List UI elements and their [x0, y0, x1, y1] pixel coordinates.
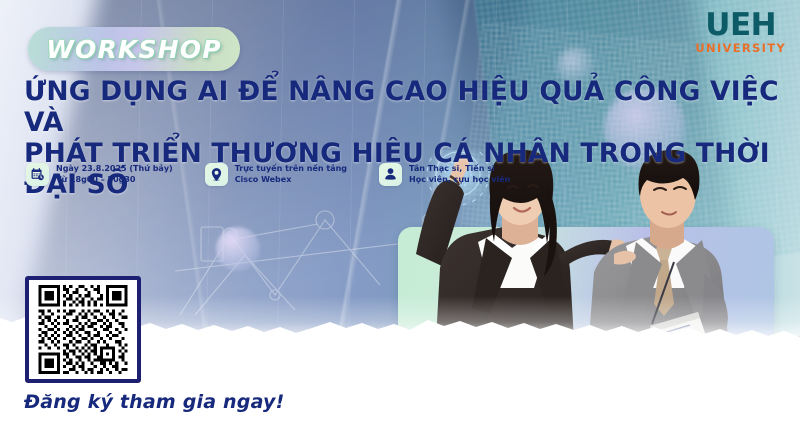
location-pin-icon — [205, 163, 228, 186]
person-icon — [379, 163, 402, 186]
info-date-line1: Ngày 23.8.2025 (Thứ bảy) — [56, 164, 173, 173]
bokeh-orb — [216, 227, 260, 271]
workshop-badge: WORKSHOP — [28, 27, 240, 71]
info-item-location: Trực tuyến trên nền tảng Cisco Webex — [205, 163, 347, 186]
ueh-logo: UEH UNIVERSITY — [695, 10, 786, 55]
info-location-line1: Trực tuyến trên nền tảng — [235, 164, 347, 173]
ueh-logo-sub: UNIVERSITY — [695, 43, 786, 55]
qr-code-registration[interactable] — [25, 276, 141, 383]
workshop-badge-label: WORKSHOP — [46, 35, 222, 64]
info-audience-text: Tân Thạc sĩ, Tiến sĩ Học viên, cựu học v… — [409, 163, 510, 185]
info-audience-line2: Học viên, cựu học viên — [409, 174, 510, 185]
info-date-text: Ngày 23.8.2025 (Thứ bảy) Từ 18g00 – 20g3… — [56, 163, 173, 185]
cta-text: Đăng ký tham gia ngay! — [24, 391, 284, 413]
ueh-logo-main: UEH — [695, 10, 786, 41]
calendar-clock-icon — [26, 163, 49, 186]
info-location-text: Trực tuyến trên nền tảng Cisco Webex — [235, 163, 347, 185]
info-date-line2: Từ 18g00 – 20g30 — [56, 174, 173, 185]
info-item-date: Ngày 23.8.2025 (Thứ bảy) Từ 18g00 – 20g3… — [26, 163, 173, 186]
info-item-audience: Tân Thạc sĩ, Tiến sĩ Học viên, cựu học v… — [379, 163, 510, 186]
event-info-row: Ngày 23.8.2025 (Thứ bảy) Từ 18g00 – 20g3… — [26, 163, 510, 186]
headline-line-1: ỨNG DỤNG AI ĐỂ NÂNG CAO HIỆU QUẢ CÔNG VI… — [24, 76, 779, 138]
info-location-line2: Cisco Webex — [235, 174, 347, 185]
info-audience-line1: Tân Thạc sĩ, Tiến sĩ — [409, 164, 495, 173]
workshop-poster: UEH UNIVERSITY WORKSHOP ỨNG DỤNG AI ĐỂ N… — [0, 0, 800, 433]
qr-code-image — [34, 285, 132, 374]
